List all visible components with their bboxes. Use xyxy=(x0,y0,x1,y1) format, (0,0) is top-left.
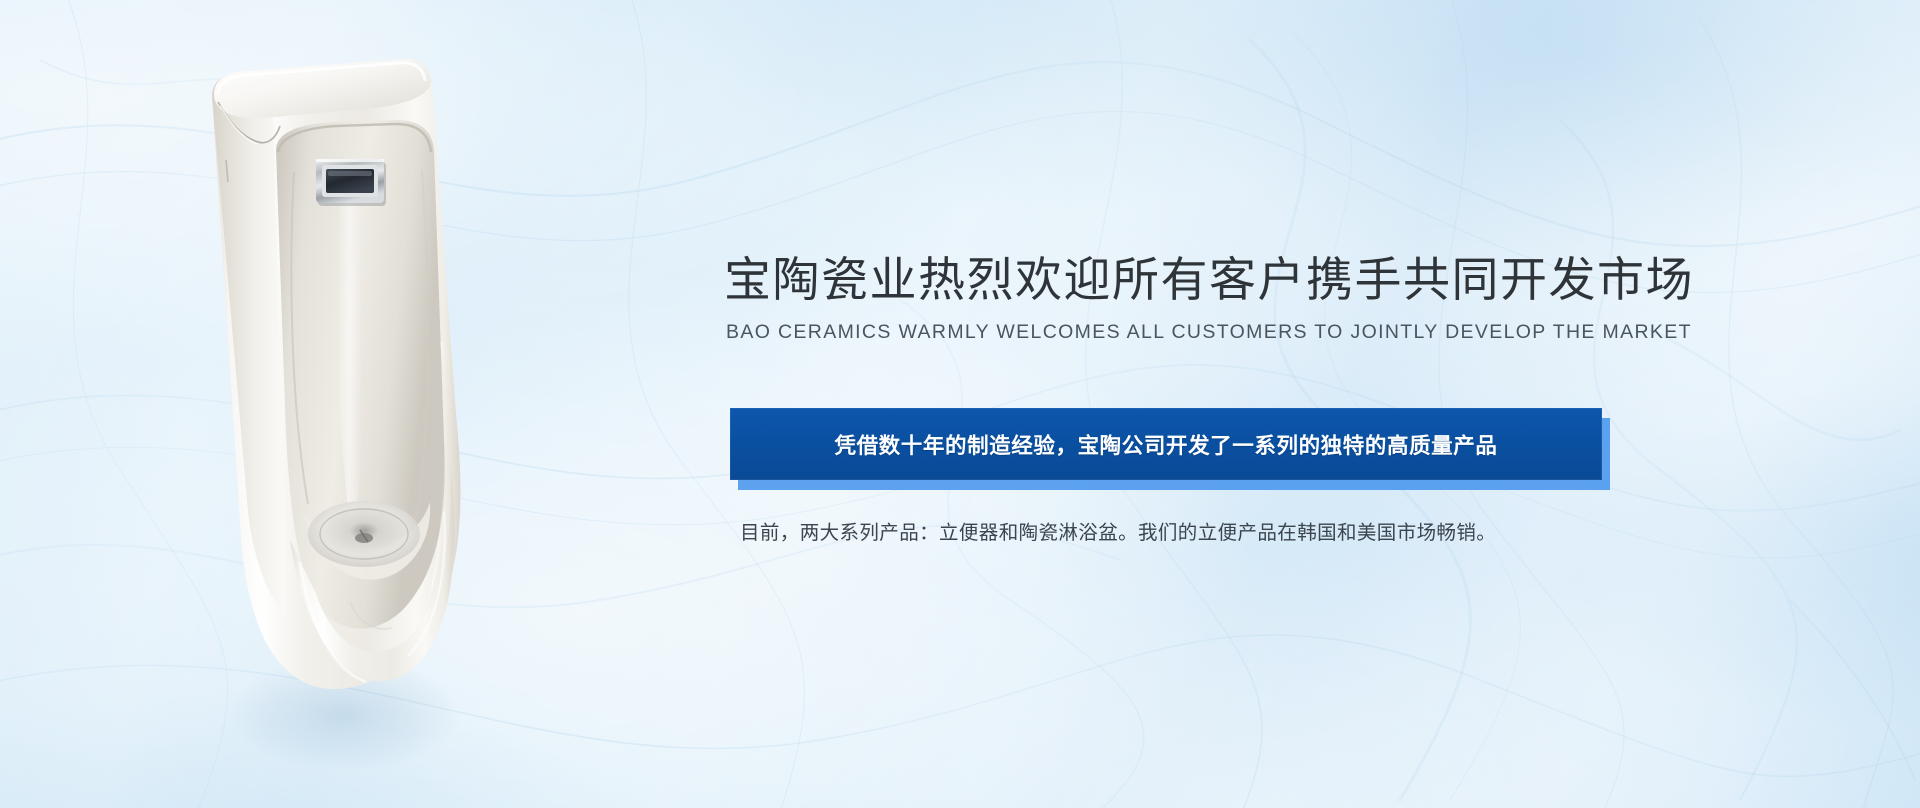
page-subtitle: BAO CERAMICS WARMLY WELCOMES ALL CUSTOME… xyxy=(726,321,1834,344)
ribbon-bar: 凭借数十年的制造经验，宝陶公司开发了一系列的独特的高质量产品 xyxy=(730,408,1602,480)
page-title: 宝陶瓷业热烈欢迎所有客户携手共同开发市场 xyxy=(724,252,1834,307)
product-image-urinal xyxy=(168,42,508,772)
urinal-illustration-icon xyxy=(168,42,508,772)
hero-banner: 宝陶瓷业热烈欢迎所有客户携手共同开发市场 BAO CERAMICS WARMLY… xyxy=(0,0,1920,808)
urinal-drain-hole xyxy=(355,533,373,543)
ribbon-label: 凭借数十年的制造经验，宝陶公司开发了一系列的独特的高质量产品 xyxy=(834,429,1497,460)
sensor-lens-glint xyxy=(328,171,372,176)
hero-paragraph: 目前，两大系列产品：立便器和陶瓷淋浴盆。我们的立便产品在韩国和美国市场畅销。 xyxy=(740,519,1496,547)
urinal-sensor-assembly xyxy=(316,159,386,206)
highlight-ribbon: 凭借数十年的制造经验，宝陶公司开发了一系列的独特的高质量产品 xyxy=(730,408,1602,480)
sensor-top-highlight xyxy=(316,159,384,162)
hero-copy-block: 宝陶瓷业热烈欢迎所有客户携手共同开发市场 BAO CERAMICS WARMLY… xyxy=(724,252,1834,345)
